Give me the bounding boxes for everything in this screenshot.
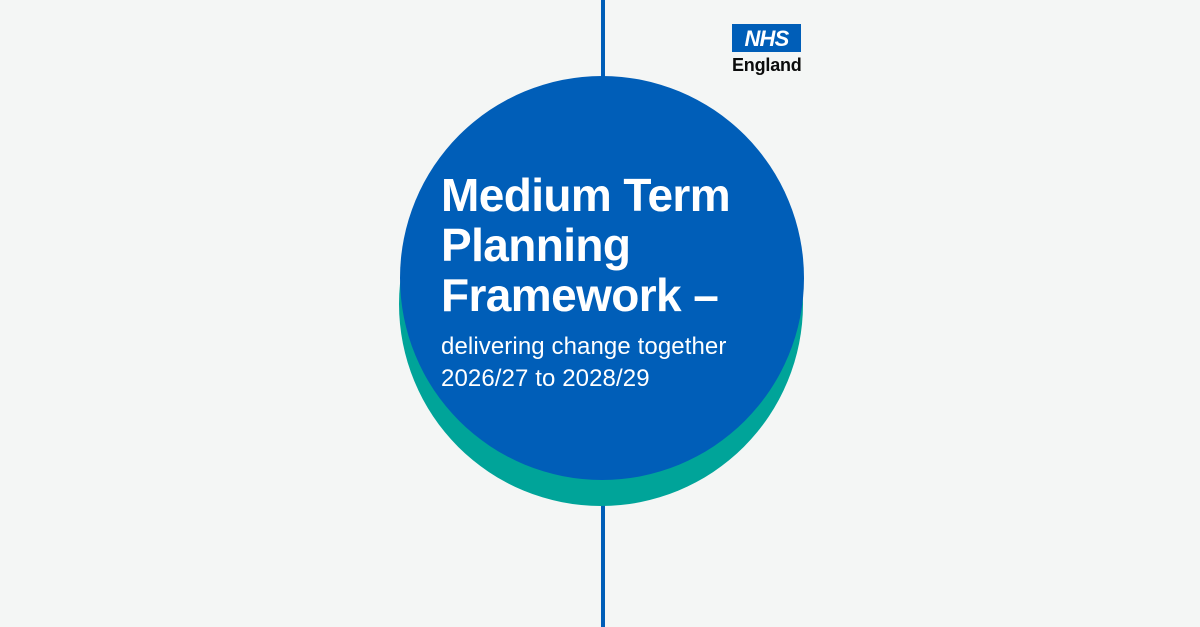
nhs-logo-subtitle: England xyxy=(732,55,802,75)
page-subtitle-line-2: 2026/27 to 2028/29 xyxy=(441,363,786,395)
nhs-england-logo: NHS England xyxy=(732,24,802,75)
cover-graphic: Medium Term Planning Framework – deliver… xyxy=(0,0,1200,627)
page-title-line-2: Planning xyxy=(441,220,786,270)
page-title-line-3: Framework – xyxy=(441,270,786,320)
cover-text-block: Medium Term Planning Framework – deliver… xyxy=(441,170,786,395)
svg-text:NHS: NHS xyxy=(744,26,789,51)
page-title-line-1: Medium Term xyxy=(441,170,786,220)
page-subtitle-line-1: delivering change together xyxy=(441,331,786,363)
nhs-logo-icon: NHS xyxy=(732,24,801,52)
